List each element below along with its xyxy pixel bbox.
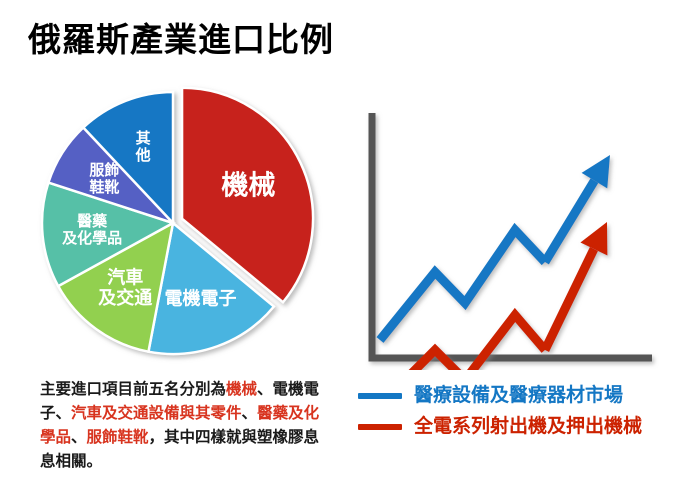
pie-slice-label: 其他 — [135, 129, 151, 164]
legend-label: 全電系列射出機及押出機械 — [414, 417, 642, 436]
trend-chart-svg — [355, 100, 685, 370]
summary-highlight: 汽車及交通設備與其零件 — [71, 405, 242, 422]
summary-text: 、 — [242, 405, 258, 422]
summary-text: 、 — [56, 405, 72, 422]
summary-highlight: 服飾鞋靴 — [87, 429, 149, 446]
page-title: 俄羅斯產業進口比例 — [28, 22, 334, 58]
legend-color-swatch — [358, 424, 402, 430]
pie-slice-label: 機械 — [221, 171, 275, 201]
trend-line-segment[interactable] — [545, 249, 594, 350]
pie-slice-label: 電機電子 — [165, 287, 237, 308]
legend-color-swatch — [358, 393, 402, 399]
trend-line[interactable] — [380, 315, 545, 370]
summary-text: 、 — [257, 381, 273, 398]
summary-highlight: 機械 — [226, 381, 257, 398]
summary-text: 主要進口項目前五名分別為 — [40, 381, 226, 398]
summary-text: 、 — [71, 429, 87, 446]
slide-canvas: 俄羅斯產業進口比例 機械電機電子汽車及交通醫藥及化學品服飾鞋靴其他 主要進口項目… — [0, 0, 700, 500]
summary-paragraph: 主要進口項目前五名分別為機械、電機電子、汽車及交通設備與其零件、醫藥及化學品、服… — [40, 378, 330, 474]
legend-item[interactable]: 醫療設備及醫療器材市場 — [358, 380, 688, 411]
chart-legend: 醫療設備及醫療器材市場全電系列射出機及押出機械 — [358, 380, 688, 442]
pie-slice-label: 服飾鞋靴 — [89, 161, 119, 196]
trend-chart — [355, 100, 685, 370]
trend-line-segment[interactable] — [545, 181, 594, 262]
legend-label: 醫療設備及醫療器材市場 — [414, 386, 623, 405]
pie-chart: 機械電機電子汽車及交通醫藥及化學品服飾鞋靴其他 — [28, 82, 358, 372]
legend-item[interactable]: 全電系列射出機及押出機械 — [358, 411, 688, 442]
pie-chart-svg: 機械電機電子汽車及交通醫藥及化學品服飾鞋靴其他 — [28, 82, 358, 372]
